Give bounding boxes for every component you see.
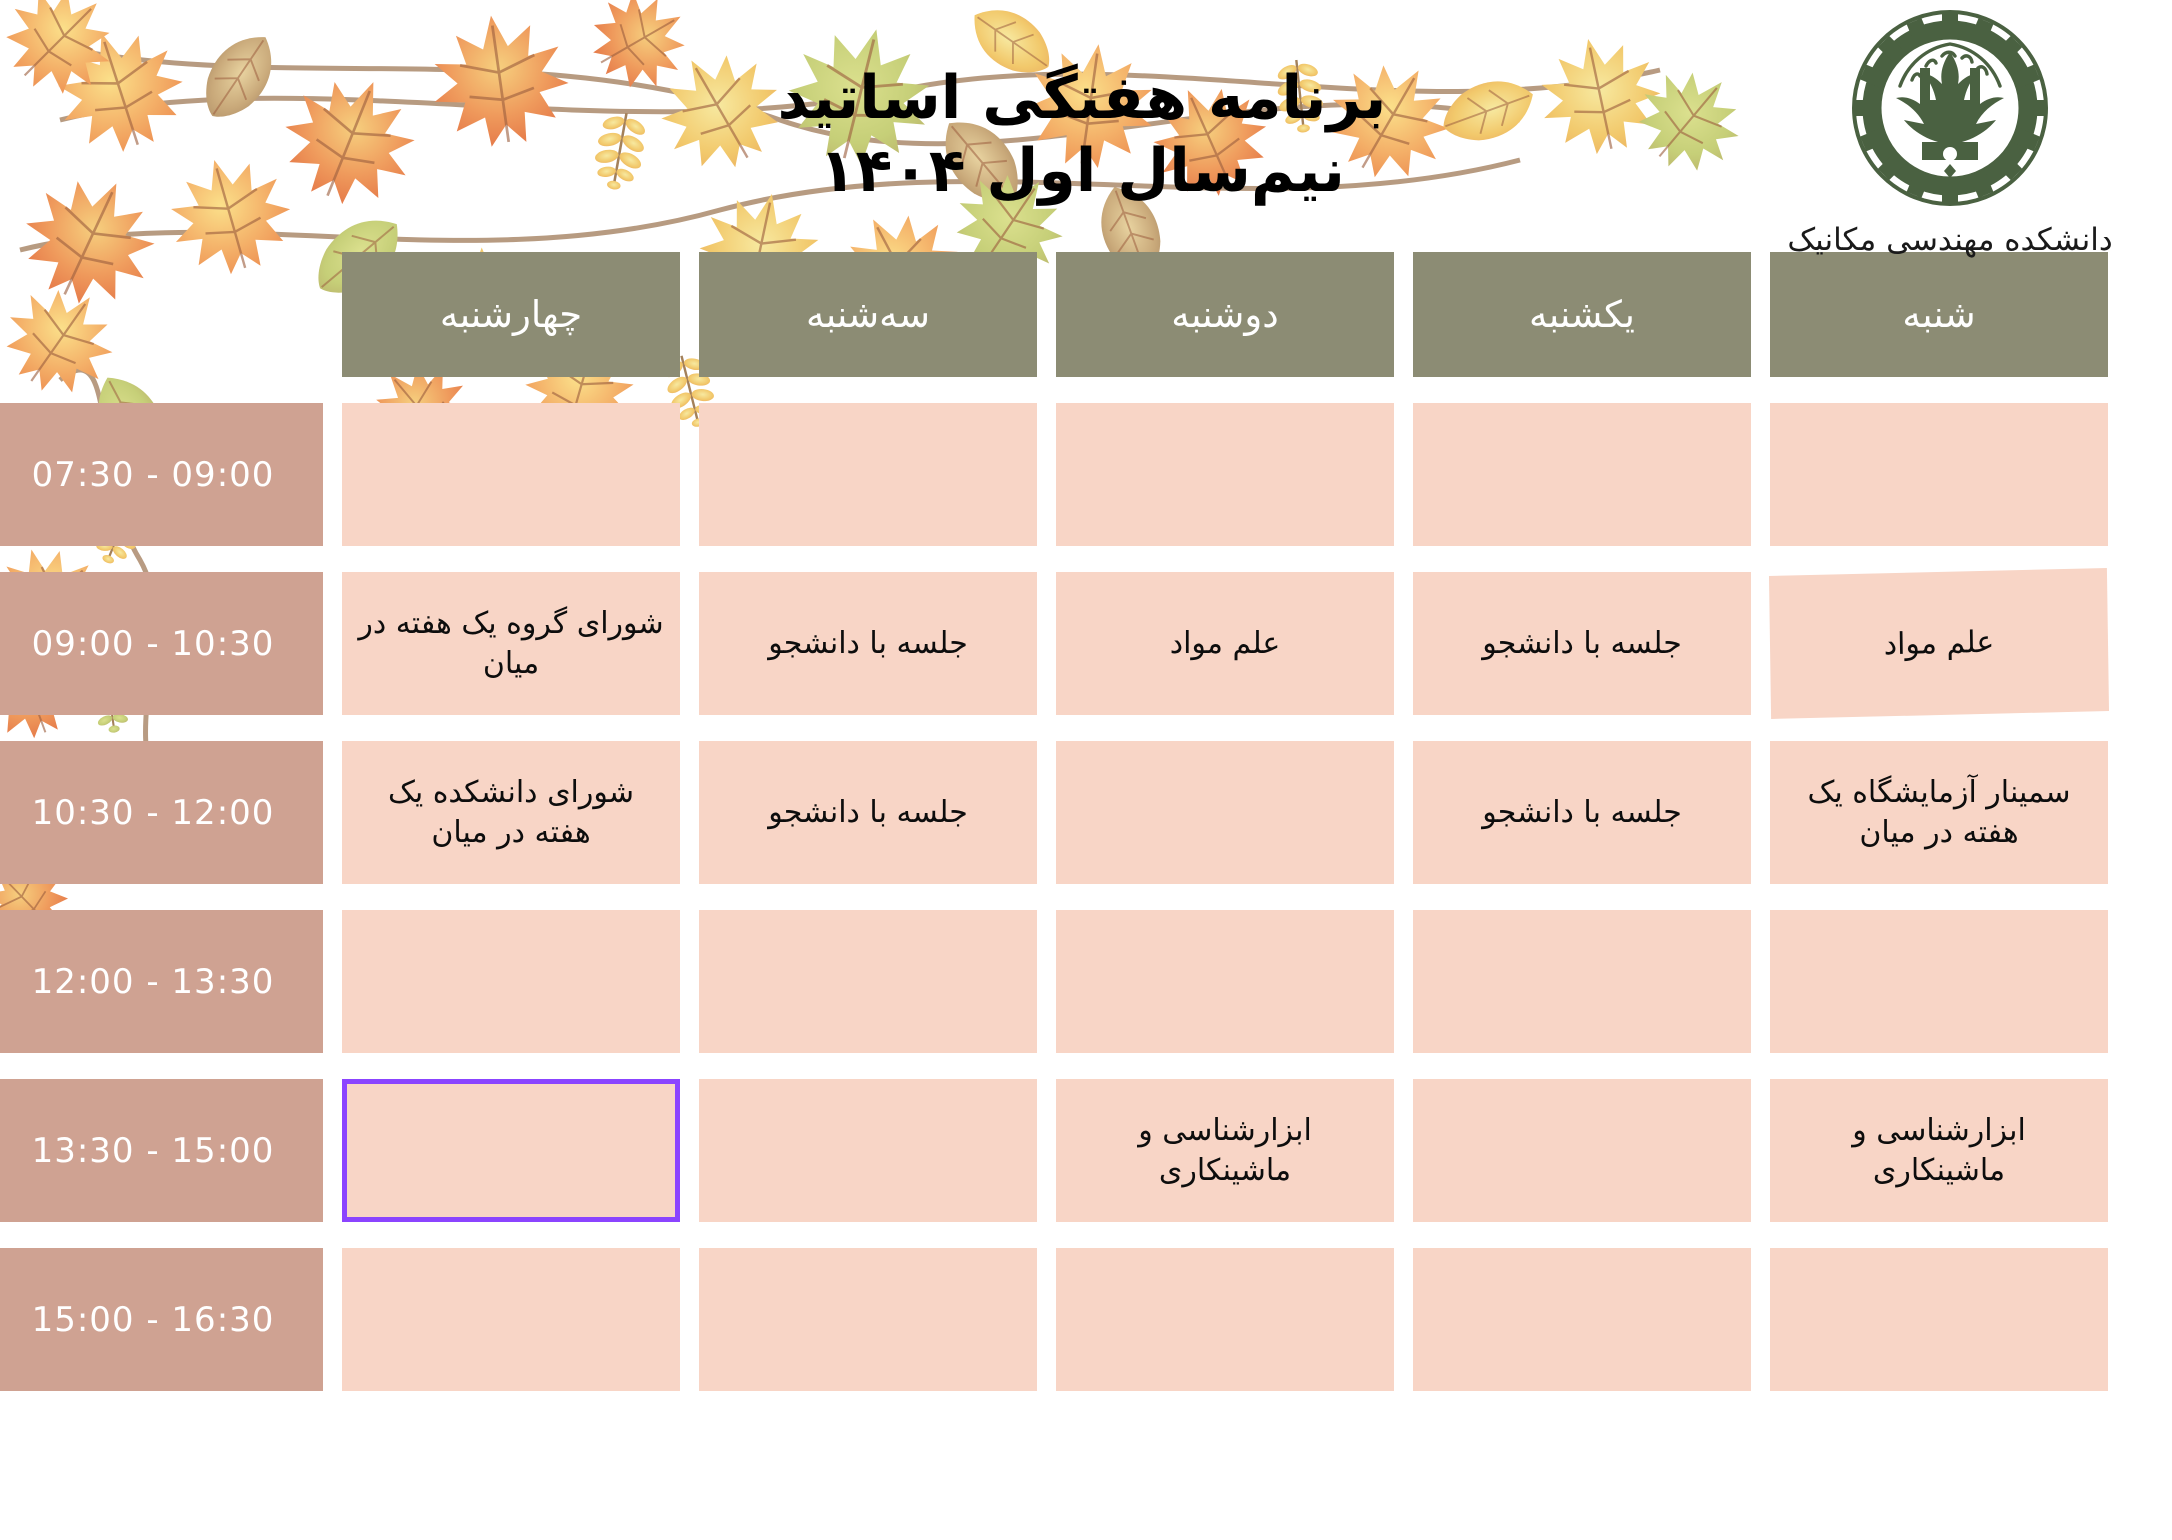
time-label: 10:30 - 12:00 <box>0 741 323 884</box>
slot-cell[interactable] <box>342 1248 680 1391</box>
slot-cell[interactable]: جلسه با دانشجو <box>1413 572 1751 715</box>
slot-cell[interactable]: جلسه با دانشجو <box>699 572 1037 715</box>
day-header-yekshanbe: یکشنبه <box>1413 252 1751 377</box>
slot-cell[interactable]: ابزارشناسی و ماشینکاری <box>1056 1079 1394 1222</box>
title-line-1: برنامه هفتگی اساتید <box>762 62 1402 135</box>
slot-cell-selected[interactable] <box>342 1079 680 1222</box>
slot-cell[interactable]: جلسه با دانشجو <box>1413 741 1751 884</box>
slot-cell[interactable] <box>1056 1248 1394 1391</box>
day-header-seshanbe: سه‌شنبه <box>699 252 1037 377</box>
time-label: 09:00 - 10:30 <box>0 572 323 715</box>
day-header-shanbe: شنبه <box>1770 252 2108 377</box>
time-column-header-spacer <box>0 252 323 377</box>
slot-cell[interactable]: شورای دانشکده یک هفته در میان <box>342 741 680 884</box>
page-title: برنامه هفتگی اساتید نیم‌سال اول ۱۴۰۴ <box>762 62 1402 208</box>
slot-cell[interactable]: علم مواد <box>1769 568 2109 719</box>
slot-cell[interactable]: سمینار آزمایشگاه یک هفته در میان <box>1770 741 2108 884</box>
slot-cell[interactable] <box>1056 741 1394 884</box>
title-line-2: نیم‌سال اول ۱۴۰۴ <box>762 135 1402 208</box>
slot-cell[interactable] <box>1056 403 1394 546</box>
slot-cell[interactable] <box>1413 910 1751 1053</box>
slot-cell[interactable] <box>1056 910 1394 1053</box>
slot-cell[interactable] <box>699 910 1037 1053</box>
slot-cell[interactable] <box>1770 403 2108 546</box>
slot-cell[interactable] <box>699 403 1037 546</box>
slot-cell[interactable] <box>342 403 680 546</box>
slot-cell[interactable]: جلسه با دانشجو <box>699 741 1037 884</box>
slot-cell[interactable] <box>1413 403 1751 546</box>
slot-cell[interactable] <box>699 1248 1037 1391</box>
time-label: 07:30 - 09:00 <box>0 403 323 546</box>
day-header-doshanbe: دوشنبه <box>1056 252 1394 377</box>
weekly-schedule-table: شنبه یکشنبه دوشنبه سه‌شنبه چهارشنبه 07:3… <box>64 252 2108 1432</box>
faculty-caption: دانشکده مهندسی مکانیک <box>1750 222 2150 258</box>
slot-cell[interactable] <box>1413 1079 1751 1222</box>
university-logo-block: دانشکده مهندسی مکانیک <box>1750 8 2150 258</box>
time-label: 13:30 - 15:00 <box>0 1079 323 1222</box>
slot-cell[interactable] <box>1413 1248 1751 1391</box>
day-header-chaharshanbe: چهارشنبه <box>342 252 680 377</box>
sharif-university-emblem-icon <box>1850 8 2050 208</box>
time-label: 12:00 - 13:30 <box>0 910 323 1053</box>
slot-cell[interactable] <box>699 1079 1037 1222</box>
time-label: 15:00 - 16:30 <box>0 1248 323 1391</box>
slot-cell[interactable]: علم مواد <box>1056 572 1394 715</box>
slot-cell[interactable] <box>1770 910 2108 1053</box>
slot-cell[interactable]: ابزارشناسی و ماشینکاری <box>1770 1079 2108 1222</box>
slot-cell[interactable] <box>1770 1248 2108 1391</box>
slot-cell[interactable] <box>342 910 680 1053</box>
schedule-poster: برنامه هفتگی اساتید نیم‌سال اول ۱۴۰۴ <box>0 0 2172 1540</box>
slot-cell[interactable]: شورای گروه یک هفته در میان <box>342 572 680 715</box>
